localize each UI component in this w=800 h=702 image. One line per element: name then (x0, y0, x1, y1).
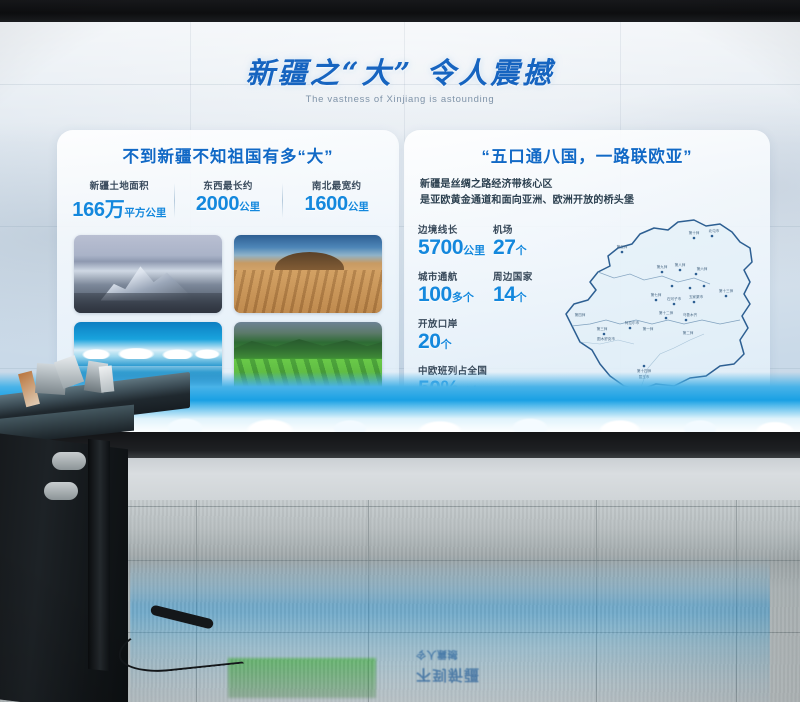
map-label: 第一师 (643, 326, 654, 331)
stat-land-area: 新疆土地面积 166万平方公里 (65, 178, 174, 222)
map-label: 五家渠市 (689, 294, 704, 299)
stat-city-air-routes: 城市通航 100多个 (418, 269, 493, 307)
stat-east-west-length: 东西最长约 2000公里 (174, 178, 283, 222)
map-label: 第十师 (689, 230, 700, 235)
stat-label: 南北最宽约 (285, 178, 388, 192)
desk-leg (88, 439, 110, 671)
map-label: 第七师 (651, 292, 662, 297)
slide-title-chinese: 新疆之“大” 令人震撼 (0, 58, 800, 90)
desk-foot (52, 452, 86, 470)
map-label: 阿拉尔市 (625, 320, 640, 325)
map-label: 图木舒克市 (597, 336, 615, 341)
slide-title-english: The vastness of Xinjiang is astounding (0, 94, 800, 105)
stat-north-south-width: 南北最宽约 1600公里 (282, 178, 391, 222)
stat-unit: 个 (441, 339, 452, 351)
reflected-text-line-2: 令人震撼 (416, 648, 666, 663)
map-label: 第六师 (697, 266, 708, 271)
stat-label: 东西最长约 (177, 178, 280, 192)
reflected-slide-text: 不到新疆 令人震撼 (416, 648, 666, 686)
map-label: 第十三师 (719, 288, 734, 293)
desert-dune-photo (234, 235, 382, 313)
stat-unit: 公里 (348, 201, 369, 213)
stat-unit: 平方公里 (124, 207, 166, 219)
map-label: 第十二师 (659, 310, 674, 315)
map-label: 石河子市 (667, 296, 682, 301)
map-label: 第三师 (597, 326, 608, 331)
stat-value: 100多个 (418, 283, 493, 307)
stat-unit: 公里 (463, 245, 485, 257)
led-display-screen: 新疆之“大” 令人震撼 The vastness of Xinjiang is … (0, 22, 800, 434)
stat-label: 城市通航 (418, 269, 493, 283)
description-line-2: 是亚欧黄金通道和面向亚洲、欧洲开放的桥头堡 (420, 193, 770, 209)
stat-unit: 个 (516, 245, 527, 257)
snow-mountain-photo (74, 235, 222, 313)
desk-foot (44, 482, 78, 500)
stat-unit: 个 (516, 292, 527, 304)
right-info-card: “五口通八国，一路联欧亚” 新疆是丝绸之路经济带核心区 是亚欧黄金通道和面向亚洲… (404, 130, 770, 412)
map-label: 第八师 (675, 262, 686, 267)
screen-top-bezel (0, 0, 800, 22)
exhibition-hall-photo: 新疆之“大” 令人震撼 The vastness of Xinjiang is … (0, 0, 800, 702)
stat-label: 边境线长 (418, 222, 493, 236)
map-label: 第四师 (575, 312, 586, 317)
right-card-description: 新疆是丝绸之路经济带核心区 是亚欧黄金通道和面向亚洲、欧洲开放的桥头堡 (420, 177, 770, 209)
stat-label: 新疆土地面积 (68, 178, 171, 192)
map-label: 第五师 (617, 244, 628, 249)
stat-border-length: 边境线长 5700公里 (418, 222, 493, 260)
stat-unit: 公里 (239, 201, 260, 213)
stat-value: 166万平方公里 (68, 193, 171, 222)
stat-unit: 多个 (452, 292, 474, 304)
map-label: 北屯市 (709, 228, 720, 233)
grassland-photo-reflection (228, 658, 376, 698)
stat-value: 2000公里 (177, 193, 280, 216)
slide-title-block: 新疆之“大” 令人震撼 The vastness of Xinjiang is … (0, 58, 800, 105)
map-label: 第九师 (657, 264, 668, 269)
right-card-title: “五口通八国，一路联欧亚” (404, 143, 770, 167)
description-line-1: 新疆是丝绸之路经济带核心区 (420, 177, 770, 193)
reflected-text-line-1: 不到新疆 (416, 665, 666, 686)
left-stat-row: 新疆土地面积 166万平方公里 东西最长约 2000公里 南北最宽约 1600公… (57, 178, 399, 222)
left-card-title: 不到新疆不知祖国有多“大” (57, 143, 399, 167)
stat-value: 5700公里 (418, 236, 493, 260)
map-label: 第二师 (683, 330, 694, 335)
stat-value: 1600公里 (285, 193, 388, 216)
map-label: 乌鲁木齐 (683, 312, 698, 317)
brochure (99, 365, 115, 392)
